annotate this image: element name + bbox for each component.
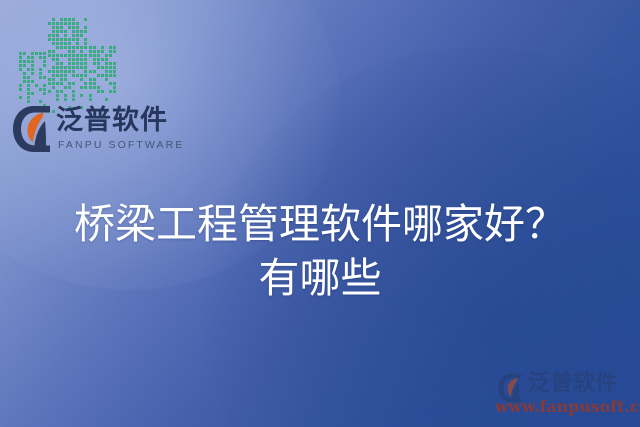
watermark-name-cn: 泛普软件: [528, 369, 618, 399]
page-title-line-2: 有哪些: [0, 251, 640, 305]
page-title-line-1: 桥梁工程管理软件哪家好？: [0, 197, 640, 251]
banner-canvas: 泛普软件 FANPU SOFTWARE 桥梁工程管理软件哪家好？ 有哪些 泛普软…: [0, 0, 640, 427]
watermark: 泛普软件 www.fanpusoft.com: [492, 365, 632, 421]
fanpu-logo-mark-icon: [12, 105, 54, 153]
logo-name-en: FANPU SOFTWARE: [58, 139, 184, 151]
fanpu-logo: 泛普软件 FANPU SOFTWARE: [12, 103, 148, 159]
watermark-url: www.fanpusoft.com: [495, 397, 640, 416]
pixel-skyline-graphic: [14, 12, 134, 114]
page-title: 桥梁工程管理软件哪家好？ 有哪些: [0, 197, 640, 305]
logo-name-cn: 泛普软件: [56, 103, 168, 139]
